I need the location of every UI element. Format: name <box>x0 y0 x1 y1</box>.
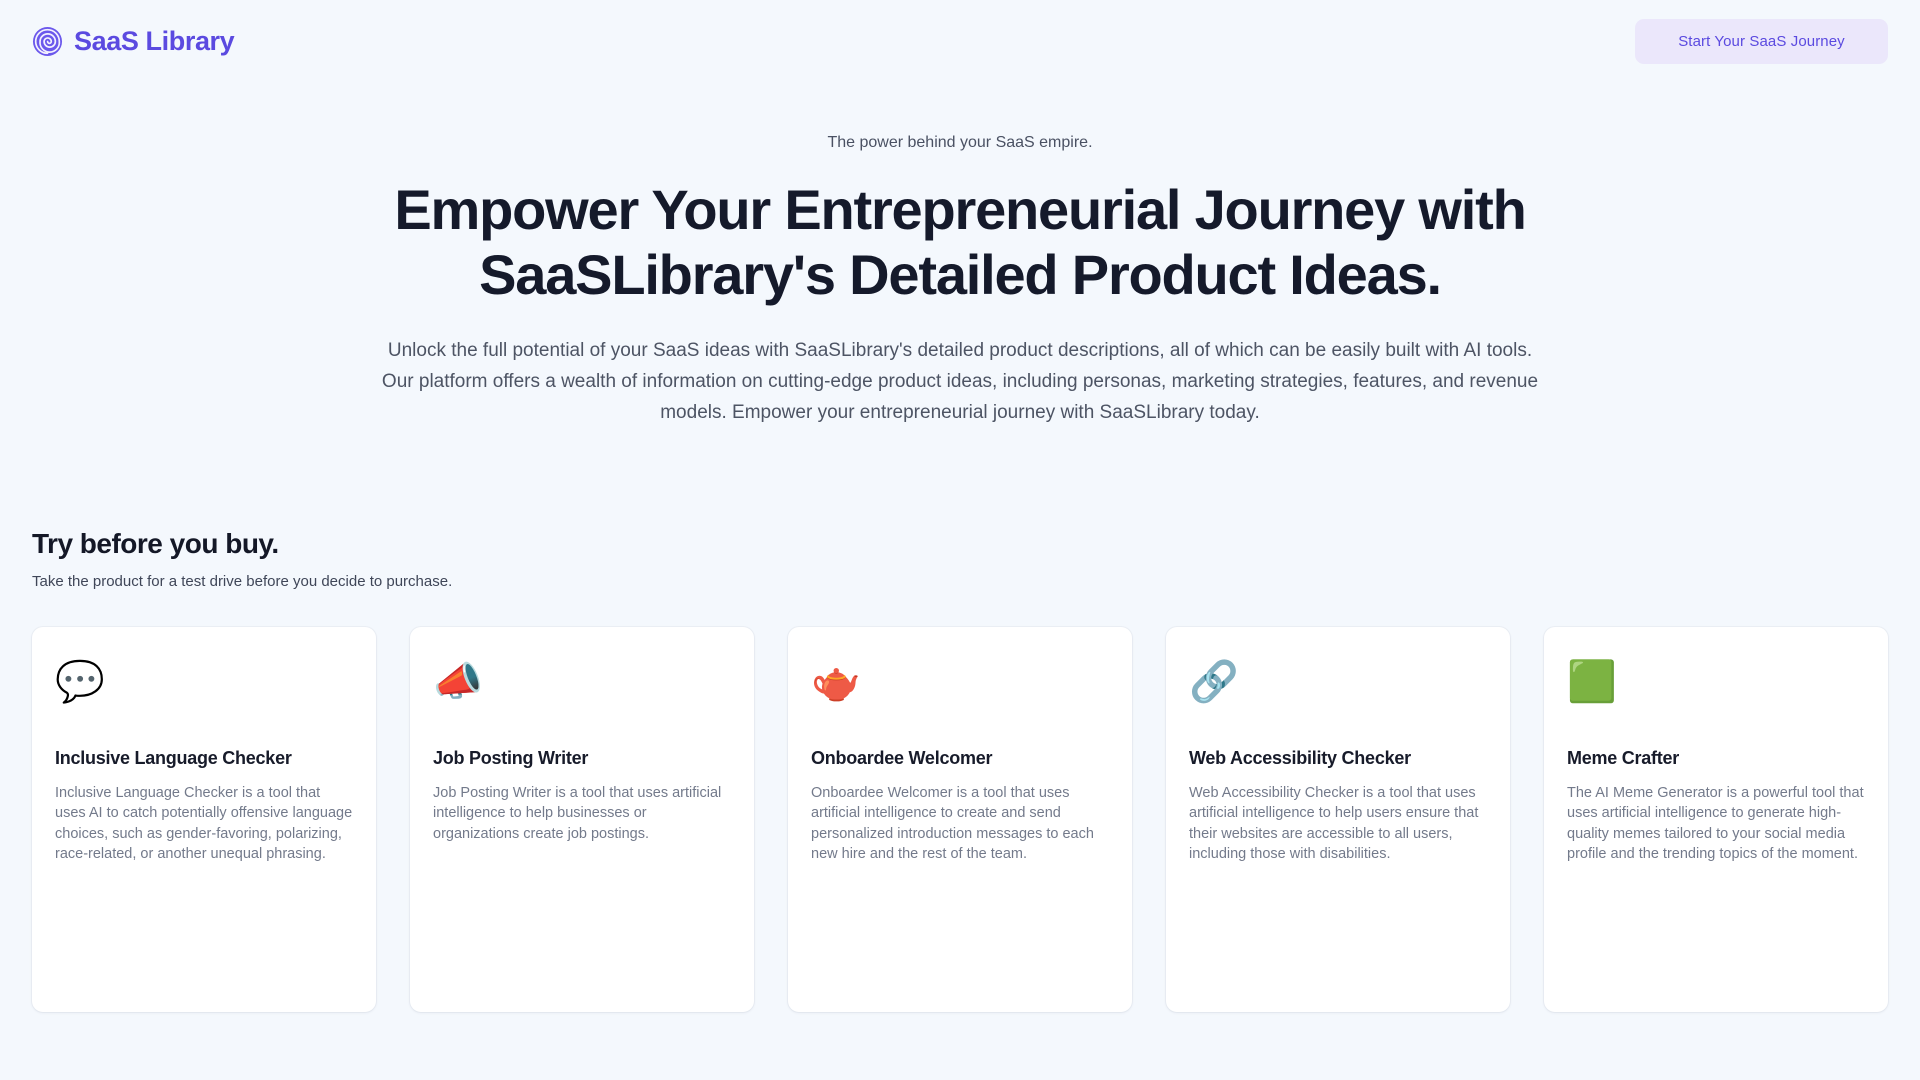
hero-eyebrow: The power behind your SaaS empire. <box>0 132 1920 154</box>
main-content: The power behind your SaaS empire. Empow… <box>0 82 1920 1012</box>
tool-card[interactable]: 💬Inclusive Language CheckerInclusive Lan… <box>32 627 376 1012</box>
tool-card-description: Job Posting Writer is a tool that uses a… <box>433 783 731 845</box>
tool-card-description: Inclusive Language Checker is a tool tha… <box>55 783 353 865</box>
brand-logo[interactable]: SaaS Library <box>32 26 234 57</box>
tool-card-grid: 💬Inclusive Language CheckerInclusive Lan… <box>32 627 1888 1012</box>
hero-description: Unlock the full potential of your SaaS i… <box>380 336 1540 428</box>
brand-name: SaaS Library <box>74 28 234 55</box>
start-journey-button[interactable]: Start Your SaaS Journey <box>1635 19 1888 64</box>
mug-icon: 🫖 <box>811 653 1109 711</box>
tool-card-description: The AI Meme Generator is a powerful tool… <box>1567 783 1865 865</box>
tool-card[interactable]: 🔗Web Accessibility CheckerWeb Accessibil… <box>1166 627 1510 1012</box>
tool-card-description: Web Accessibility Checker is a tool that… <box>1189 783 1487 865</box>
tool-card-title: Inclusive Language Checker <box>55 747 353 770</box>
page-title: Empower Your Entrepreneurial Journey wit… <box>310 178 1610 308</box>
chain-link-icon: 🔗 <box>1189 653 1487 711</box>
tool-card[interactable]: 📣Job Posting WriterJob Posting Writer is… <box>410 627 754 1012</box>
tool-card[interactable]: 🫖Onboardee WelcomerOnboardee Welcomer is… <box>788 627 1132 1012</box>
tool-card[interactable]: 🟩Meme CrafterThe AI Meme Generator is a … <box>1544 627 1888 1012</box>
megaphone-icon: 📣 <box>433 653 731 711</box>
tool-card-title: Onboardee Welcomer <box>811 747 1109 770</box>
tool-card-description: Onboardee Welcomer is a tool that uses a… <box>811 783 1109 865</box>
try-before-you-buy-section: Try before you buy. Take the product for… <box>0 429 1920 1013</box>
tool-card-title: Job Posting Writer <box>433 747 731 770</box>
section-subtitle: Take the product for a test drive before… <box>32 571 1888 592</box>
creeper-face-icon: 🟩 <box>1567 653 1865 711</box>
spiral-icon <box>32 26 63 57</box>
hero-section: The power behind your SaaS empire. Empow… <box>0 82 1920 429</box>
speech-balloons-icon: 💬 <box>55 653 353 711</box>
tool-card-title: Meme Crafter <box>1567 747 1865 770</box>
section-title: Try before you buy. <box>32 527 1888 561</box>
site-header: SaaS Library Start Your SaaS Journey <box>0 0 1920 82</box>
tool-card-title: Web Accessibility Checker <box>1189 747 1487 770</box>
